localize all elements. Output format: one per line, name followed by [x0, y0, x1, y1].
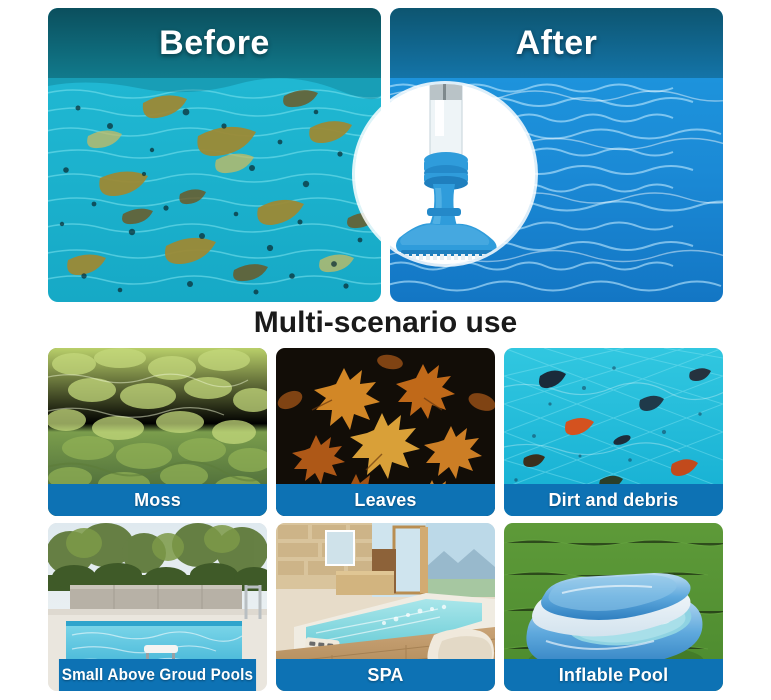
section-title: Multi-scenario use	[0, 306, 771, 340]
before-panel: Before	[48, 8, 381, 302]
scenario-label-spa: SPA	[276, 659, 495, 691]
scenario-card-inflatable-pool[interactable]: Inflable Pool	[504, 523, 723, 691]
scenario-card-spa[interactable]: SPA	[276, 523, 495, 691]
product-infographic: Before	[0, 0, 771, 700]
pool-vacuum-head-icon	[355, 84, 535, 264]
product-image-circle	[355, 84, 535, 264]
scenario-card-leaves[interactable]: Leaves	[276, 348, 495, 516]
scenario-card-dirt-and-debris[interactable]: Dirt and debris	[504, 348, 723, 516]
scenario-label-dirt-and-debris: Dirt and debris	[504, 484, 723, 516]
scenario-label-moss: Moss	[48, 484, 267, 516]
scenario-label-leaves: Leaves	[276, 484, 495, 516]
scenario-label-small-above-ground-pools: Small Above Groud Pools	[59, 659, 256, 691]
scenario-card-moss[interactable]: Moss	[48, 348, 267, 516]
dirty-pool-water-image	[48, 8, 381, 302]
scenario-grid: Moss	[48, 348, 723, 691]
scenario-card-small-above-ground-pools[interactable]: Small Above Groud Pools	[48, 523, 267, 691]
before-after-banner: Before	[48, 8, 723, 302]
scenario-label-inflatable-pool: Inflable Pool	[504, 659, 723, 691]
